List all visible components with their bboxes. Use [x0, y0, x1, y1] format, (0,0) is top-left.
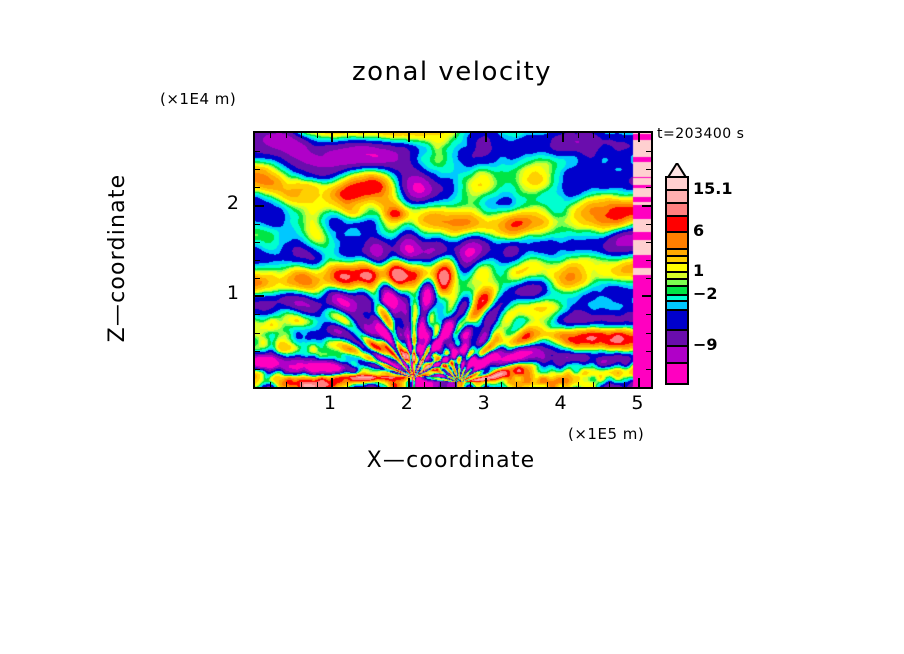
- colorbar-divider: [665, 294, 689, 296]
- x-tick-top: [562, 133, 564, 142]
- x-tick-top: [485, 133, 487, 142]
- x-tick-bottom: [470, 382, 471, 387]
- colorbar-divider: [665, 345, 689, 347]
- x-tick-top: [331, 133, 333, 142]
- colorbar-divider: [665, 202, 689, 204]
- x-tick-top: [501, 133, 502, 138]
- colorbar-divider: [665, 285, 689, 287]
- colorbar-divider: [665, 362, 689, 364]
- x-tick-top: [378, 133, 379, 138]
- x-tick-bottom: [270, 382, 271, 387]
- colorbar-tick-label: −2: [693, 284, 718, 303]
- x-tick-label: 3: [469, 392, 499, 414]
- x-tick-top: [516, 133, 517, 138]
- y-tick-right: [642, 205, 651, 207]
- x-tick-label: 2: [392, 392, 422, 414]
- x-tick-bottom: [485, 378, 487, 387]
- colorbar-divider: [665, 248, 689, 250]
- x-tick-top: [424, 133, 425, 138]
- colorbar-band: [665, 232, 689, 249]
- colorbar-divider: [665, 271, 689, 273]
- y-tick-right: [646, 224, 651, 225]
- x-tick-top: [440, 133, 441, 138]
- colorbar-divider: [665, 278, 689, 280]
- y-tick-right: [646, 314, 651, 315]
- x-tick-bottom: [562, 378, 564, 387]
- y-tick-left: [255, 224, 260, 225]
- contour-plot-area: [253, 131, 653, 389]
- y-tick-right: [646, 242, 651, 243]
- x-tick-top: [301, 133, 302, 138]
- y-tick-left: [255, 351, 260, 352]
- x-tick-top: [609, 133, 610, 138]
- x-tick-bottom: [424, 382, 425, 387]
- colorbar-tick-label: −9: [693, 335, 718, 354]
- x-tick-top: [363, 133, 364, 138]
- y-tick-left: [255, 369, 260, 370]
- colorbar-band: [665, 346, 689, 363]
- timestamp-annotation: t=203400 s: [657, 126, 744, 142]
- x-tick-top: [470, 133, 471, 138]
- y-axis-unit-label: (×1E4 m): [160, 90, 236, 108]
- x-axis-unit-label: (×1E5 m): [568, 425, 644, 443]
- y-tick-left: [255, 278, 260, 279]
- y-tick-left: [255, 187, 260, 188]
- x-tick-bottom: [301, 382, 302, 387]
- x-tick-bottom: [624, 382, 625, 387]
- colorbar-band: [665, 310, 689, 330]
- x-tick-top: [638, 133, 640, 142]
- colorbar-tick-label: 6: [693, 221, 704, 240]
- x-tick-label: 1: [315, 392, 345, 414]
- y-tick-right: [646, 369, 651, 370]
- y-tick-left: [255, 205, 264, 207]
- x-tick-bottom: [347, 382, 348, 387]
- page-title: zonal velocity: [0, 57, 904, 87]
- x-tick-bottom: [440, 382, 441, 387]
- colorbar-divider: [665, 215, 689, 217]
- x-tick-top: [578, 133, 579, 138]
- x-tick-bottom: [532, 382, 533, 387]
- y-tick-left: [255, 333, 260, 334]
- zonal-velocity-field: [255, 133, 651, 387]
- y-tick-right: [646, 351, 651, 352]
- x-tick-top: [593, 133, 594, 138]
- colorbar-divider: [665, 262, 689, 264]
- y-tick-left: [255, 169, 260, 170]
- y-tick-right: [646, 169, 651, 170]
- colorbar-band: [665, 176, 689, 190]
- y-tick-left: [255, 242, 260, 243]
- y-tick-left: [255, 260, 260, 261]
- colorbar-band: [665, 363, 689, 385]
- y-tick-label: 2: [209, 192, 239, 214]
- x-tick-top: [408, 133, 410, 142]
- colorbar-divider: [665, 309, 689, 311]
- colorbar-divider: [665, 300, 689, 302]
- x-tick-bottom: [378, 382, 379, 387]
- colorbar-band: [665, 330, 689, 346]
- colorbar-divider: [665, 329, 689, 331]
- x-tick-top: [270, 133, 271, 138]
- y-tick-right: [646, 151, 651, 152]
- colorbar-divider: [665, 189, 689, 191]
- colorbar-tick-label: 15.1: [693, 179, 732, 198]
- x-tick-label: 4: [546, 392, 576, 414]
- x-tick-bottom: [455, 382, 456, 387]
- y-tick-right: [646, 187, 651, 188]
- y-tick-right: [642, 295, 651, 297]
- x-tick-bottom: [331, 378, 333, 387]
- y-tick-label: 1: [209, 282, 239, 304]
- x-tick-bottom: [501, 382, 502, 387]
- x-tick-bottom: [363, 382, 364, 387]
- x-tick-top: [317, 133, 318, 138]
- x-tick-bottom: [609, 382, 610, 387]
- x-tick-bottom: [578, 382, 579, 387]
- x-tick-bottom: [547, 382, 548, 387]
- x-tick-bottom: [593, 382, 594, 387]
- colorbar-divider: [665, 255, 689, 257]
- figure-canvas: zonal velocity (×1E4 m) (×1E5 m) t=20340…: [0, 0, 904, 654]
- x-tick-label: 5: [622, 392, 652, 414]
- colorbar-tick-label: 1: [693, 261, 704, 280]
- x-tick-top: [532, 133, 533, 138]
- x-tick-top: [393, 133, 394, 138]
- y-tick-left: [255, 151, 260, 152]
- x-tick-top: [286, 133, 287, 138]
- colorbar-divider: [665, 231, 689, 233]
- x-tick-bottom: [317, 382, 318, 387]
- x-tick-bottom: [286, 382, 287, 387]
- x-tick-top: [455, 133, 456, 138]
- y-tick-right: [646, 333, 651, 334]
- x-tick-top: [547, 133, 548, 138]
- x-tick-bottom: [393, 382, 394, 387]
- y-tick-left: [255, 314, 260, 315]
- y-tick-right: [646, 260, 651, 261]
- x-tick-bottom: [638, 378, 640, 387]
- colorbar-band: [665, 216, 689, 232]
- x-tick-top: [347, 133, 348, 138]
- colorbar: [665, 176, 689, 385]
- x-tick-bottom: [408, 378, 410, 387]
- y-tick-left: [255, 295, 264, 297]
- x-tick-top: [624, 133, 625, 138]
- y-tick-right: [646, 278, 651, 279]
- y-axis-title: Z—coordinate: [105, 88, 130, 428]
- x-tick-bottom: [516, 382, 517, 387]
- x-axis-title: X—coordinate: [253, 448, 649, 473]
